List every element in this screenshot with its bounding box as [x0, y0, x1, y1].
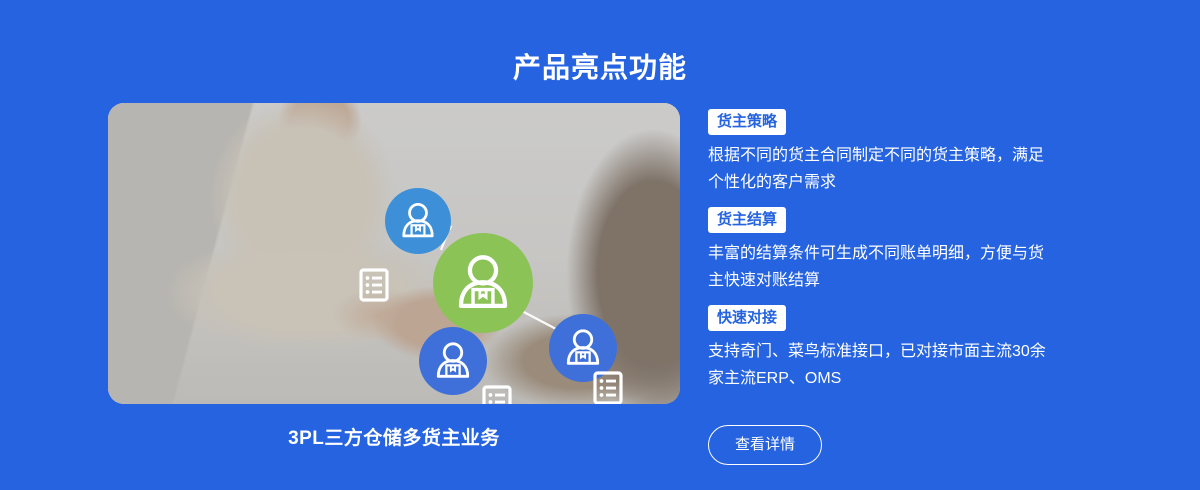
feature-item-3: 快速对接 支持奇门、菜鸟标准接口，已对接市面主流30余家主流ERP、OMS — [708, 305, 1108, 392]
hero-image-card[interactable] — [108, 103, 680, 404]
media-caption: 3PL三方仓储多货主业务 — [108, 423, 680, 450]
feature-highlight-section: 3PL三方仓储多货主业务 货主策略 根据不同的货主合同制定不同的货主策略，满足个… — [108, 103, 1108, 465]
feature-badge-2: 货主结算 — [708, 207, 786, 233]
network-diagram-overlay — [108, 103, 680, 404]
media-column: 3PL三方仓储多货主业务 — [108, 103, 680, 450]
page-title: 产品亮点功能 — [0, 48, 1200, 88]
feature-item-2: 货主结算 丰富的结算条件可生成不同账单明细，方便与货主快速对账结算 — [708, 207, 1108, 294]
feature-description-3: 支持奇门、菜鸟标准接口，已对接市面主流30余家主流ERP、OMS — [708, 338, 1050, 392]
node-top-left — [385, 188, 451, 254]
feature-description-1: 根据不同的货主合同制定不同的货主策略，满足个性化的客户需求 — [708, 142, 1050, 196]
feature-badge-3: 快速对接 — [708, 305, 786, 331]
feature-item-1: 货主策略 根据不同的货主合同制定不同的货主策略，满足个性化的客户需求 — [708, 109, 1108, 196]
view-details-button[interactable]: 查看详情 — [708, 425, 822, 465]
feature-description-2: 丰富的结算条件可生成不同账单明细，方便与货主快速对账结算 — [708, 240, 1050, 294]
feature-badge-1: 货主策略 — [708, 109, 786, 135]
node-bottom-left — [419, 327, 487, 395]
list-icon-1 — [361, 270, 387, 300]
features-column: 货主策略 根据不同的货主合同制定不同的货主策略，满足个性化的客户需求 货主结算 … — [680, 103, 1108, 465]
center-node — [433, 233, 533, 333]
list-icon-2 — [484, 387, 510, 404]
